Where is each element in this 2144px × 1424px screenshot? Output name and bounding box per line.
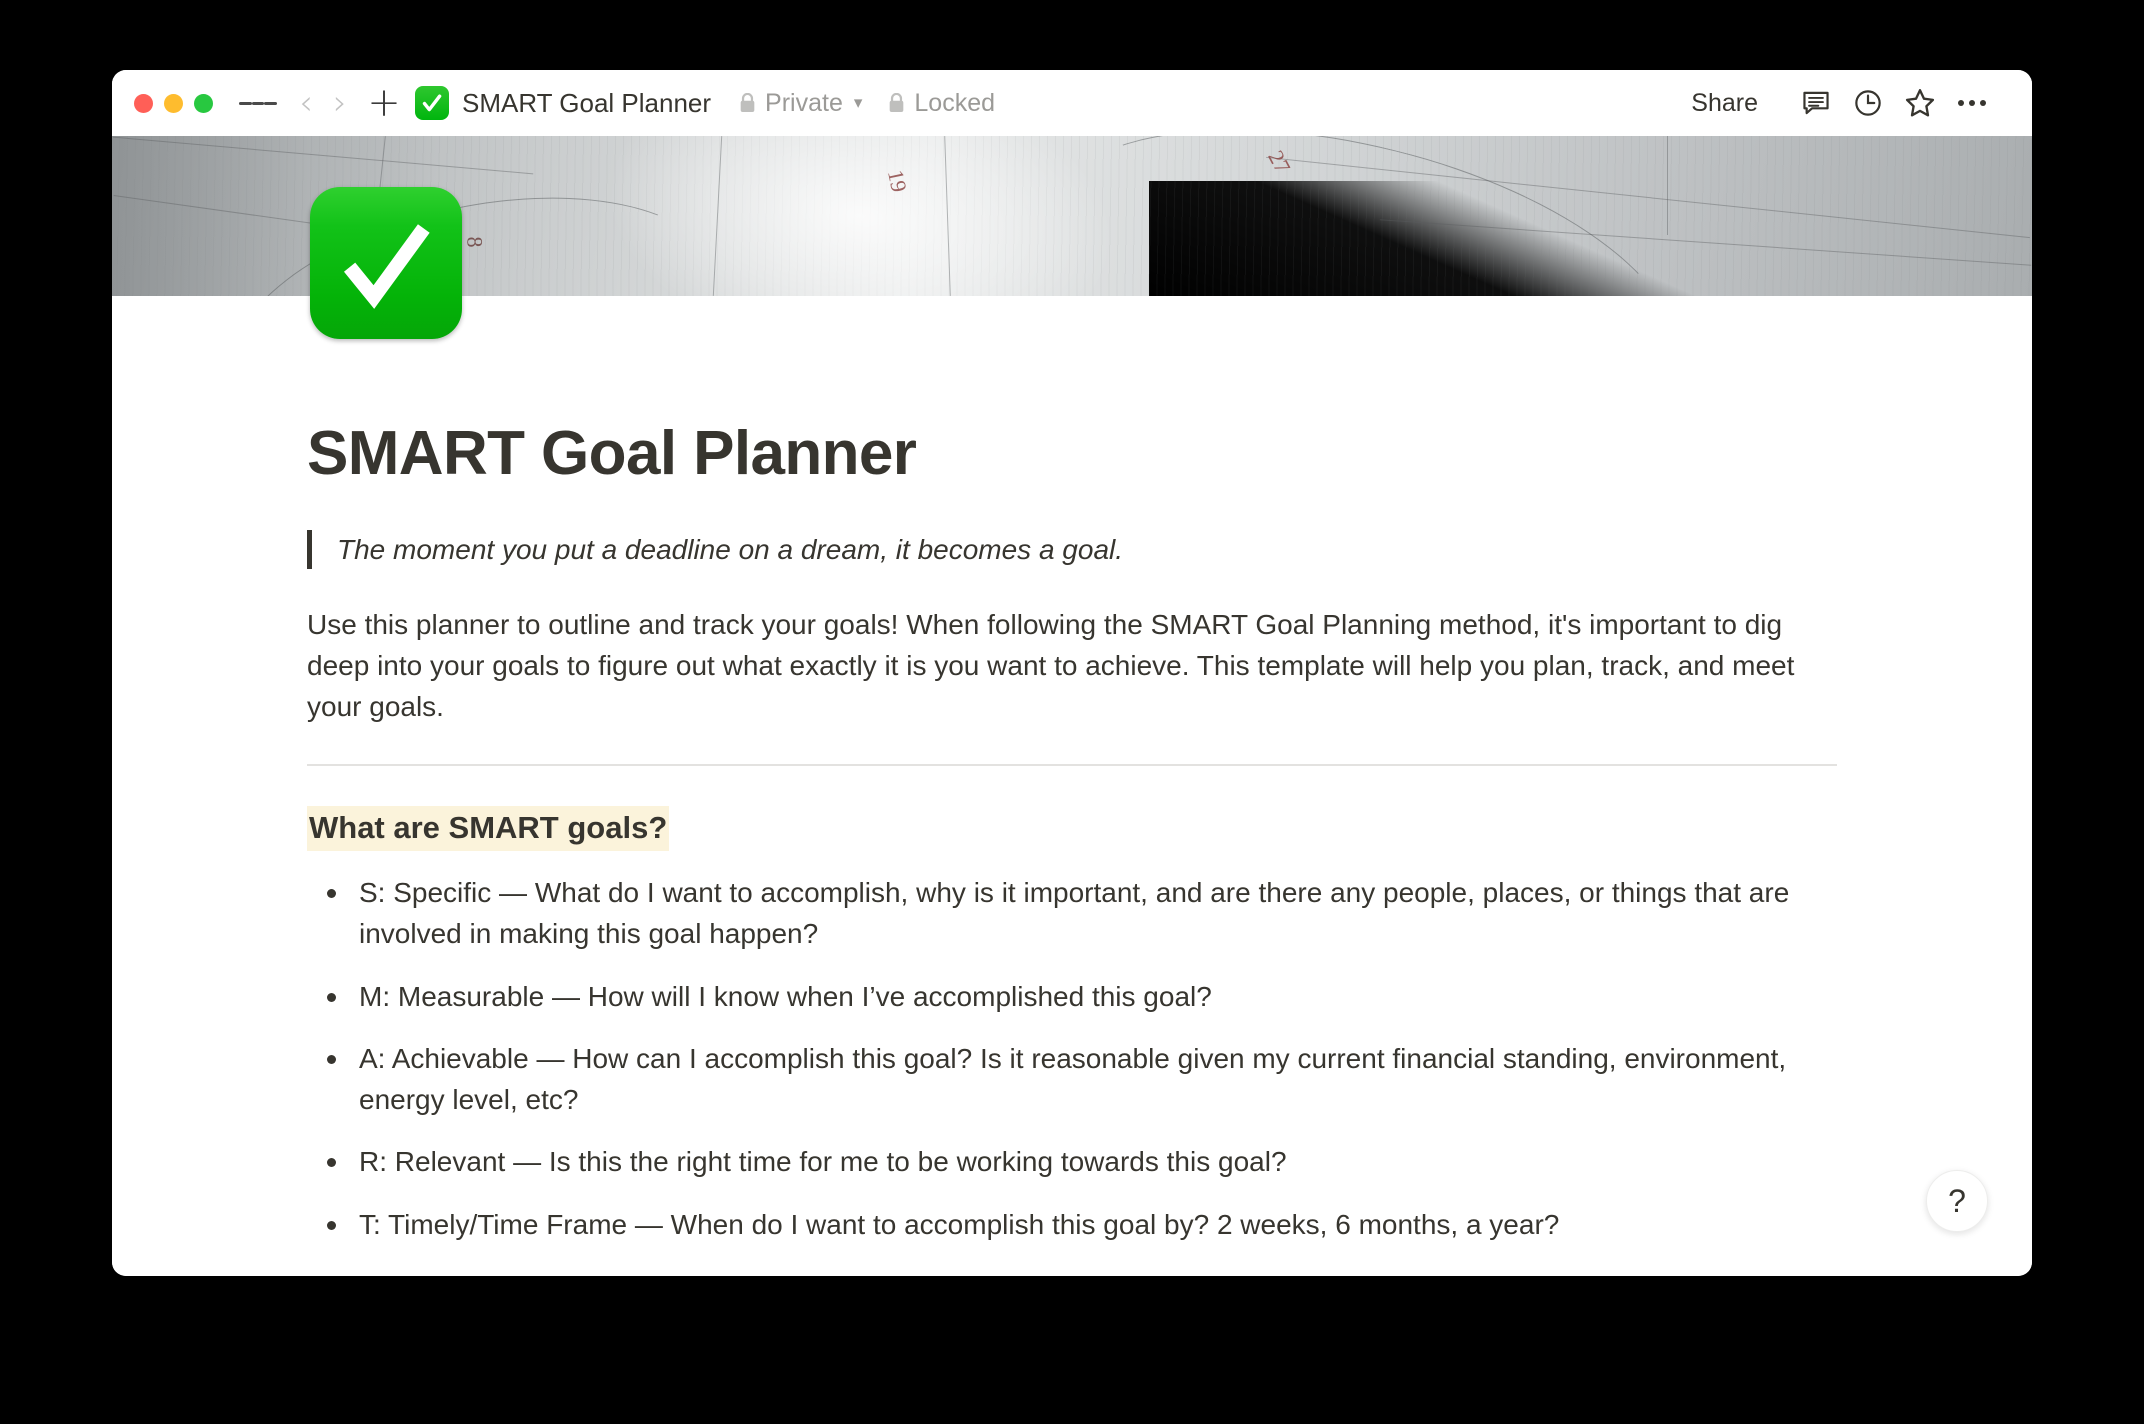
chevron-right-icon[interactable]: › — [323, 83, 357, 123]
bullet-icon — [327, 1221, 336, 1230]
star-icon[interactable] — [1894, 81, 1946, 125]
chevron-left-icon[interactable]: ‹ — [289, 83, 323, 123]
help-button[interactable]: ? — [1926, 1170, 1988, 1232]
list-item-label: A: Achievable — How can I accomplish thi… — [359, 1043, 1786, 1115]
smart-goals-list: S: Specific — What do I want to accompli… — [307, 873, 1839, 1245]
ellipsis-icon[interactable] — [1946, 81, 1998, 125]
section-heading[interactable]: What are SMART goals? — [307, 806, 669, 852]
maximize-button[interactable] — [194, 94, 213, 113]
help-label: ? — [1948, 1185, 1966, 1217]
page-content: SMART Goal Planner The moment you put a … — [112, 296, 2032, 1276]
page-title[interactable]: SMART Goal Planner — [307, 420, 1839, 488]
list-item[interactable]: M: Measurable — How will I know when I’v… — [307, 977, 1843, 1018]
bullet-icon — [327, 1158, 336, 1167]
quote-block[interactable]: The moment you put a deadline on a dream… — [307, 530, 1839, 569]
bullet-icon — [327, 1055, 336, 1064]
cover-line — [1667, 136, 1668, 235]
list-item[interactable]: S: Specific — What do I want to accompli… — [307, 873, 1843, 954]
list-item[interactable]: A: Achievable — How can I accomplish thi… — [307, 1039, 1843, 1120]
share-button[interactable]: Share — [1677, 83, 1772, 124]
cover-number: 8 — [461, 236, 487, 248]
titlebar: ‹ › + SMART Goal Planner Private ▾ Locke… — [112, 70, 2032, 136]
comment-bubble-icon[interactable] — [1790, 81, 1842, 125]
bullet-icon — [327, 993, 336, 1002]
privacy-selector[interactable]: Private ▾ — [739, 89, 862, 118]
app-window: ‹ › + SMART Goal Planner Private ▾ Locke… — [112, 70, 2032, 1276]
list-item-label: T: Timely/Time Frame — When do I want to… — [359, 1209, 1559, 1240]
page-emoji-icon[interactable] — [310, 187, 462, 339]
white-heavy-check-mark-emoji — [415, 86, 449, 120]
hamburger-menu-icon[interactable] — [239, 83, 277, 123]
quote-text: The moment you put a deadline on a dream… — [312, 530, 1123, 569]
content-column: SMART Goal Planner The moment you put a … — [307, 420, 1839, 1246]
list-item-label: R: Relevant — Is this the right time for… — [359, 1146, 1287, 1177]
lock-icon — [888, 93, 905, 113]
clock-history-icon[interactable] — [1842, 81, 1894, 125]
close-button[interactable] — [134, 94, 153, 113]
bullet-icon — [327, 889, 336, 898]
chevron-down-icon: ▾ — [854, 93, 863, 113]
titlebar-actions: Share — [1677, 81, 1998, 125]
locked-label: Locked — [914, 89, 995, 118]
page-title-breadcrumb[interactable]: SMART Goal Planner — [462, 88, 711, 119]
list-item[interactable]: R: Relevant — Is this the right time for… — [307, 1142, 1843, 1183]
privacy-label: Private — [765, 89, 843, 118]
locked-indicator[interactable]: Locked — [888, 89, 995, 118]
list-item[interactable]: T: Timely/Time Frame — When do I want to… — [307, 1205, 1843, 1246]
minimize-button[interactable] — [164, 94, 183, 113]
lock-icon — [739, 93, 756, 113]
intro-paragraph[interactable]: Use this planner to outline and track yo… — [307, 605, 1825, 728]
list-item-label: S: Specific — What do I want to accompli… — [359, 877, 1789, 949]
list-item-label: M: Measurable — How will I know when I’v… — [359, 981, 1212, 1012]
plus-icon[interactable]: + — [361, 83, 407, 123]
divider — [307, 764, 1837, 766]
window-controls — [134, 94, 213, 113]
